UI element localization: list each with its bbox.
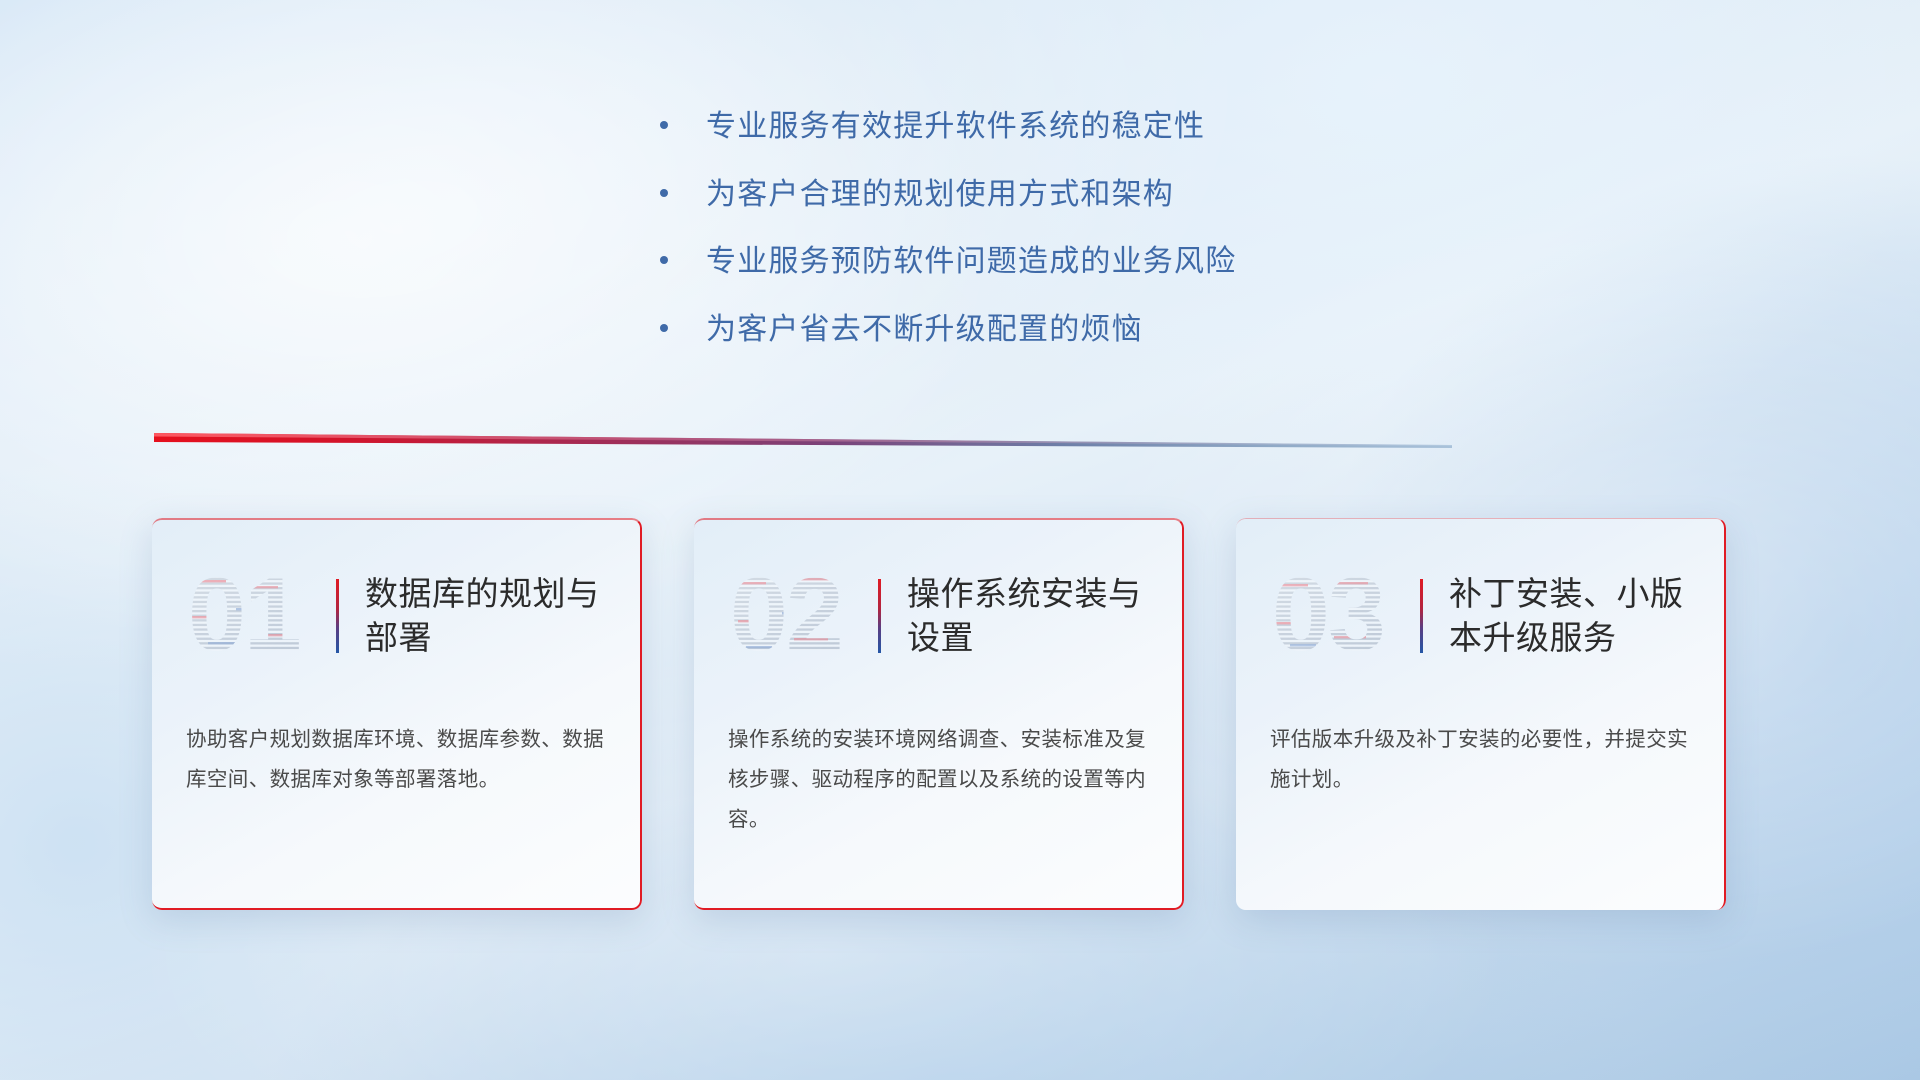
bullet-item-label: 专业服务有效提升软件系统的稳定性 [706,108,1205,146]
bullet-dot-icon [660,324,668,332]
slide-root: 专业服务有效提升软件系统的稳定性 为客户合理的规划使用方式和架构 专业服务预防软… [0,0,1920,1080]
card-number-03-icon: 03 [1270,564,1402,668]
card-title: 数据库的规划与部署 [365,572,608,659]
card-title-separator [1420,579,1423,653]
card-header: 03 [1270,556,1692,676]
bullet-item: 为客户合理的规划使用方式和架构 [660,176,1420,214]
card-number-01-icon: 01 [186,564,318,668]
card-title-separator [336,579,339,653]
card-body-text: 协助客户规划数据库环境、数据库参数、数据库空间、数据库对象等部署落地。 [186,720,608,800]
bullet-item: 专业服务预防软件问题造成的业务风险 [660,243,1420,281]
card-title: 补丁安装、小版本升级服务 [1449,572,1692,659]
card-title: 操作系统安装与设置 [907,572,1150,659]
card-03[interactable]: 03 [1236,518,1726,910]
card-header: 02 [728,556,1150,676]
bullet-item-label: 专业服务预防软件问题造成的业务风险 [706,243,1236,281]
card-number-02-icon: 02 [728,564,860,668]
bullet-item-label: 为客户省去不断升级配置的烦恼 [706,311,1143,349]
bullet-dot-icon [660,256,668,264]
bullet-dot-icon [660,121,668,129]
bullet-dot-icon [660,189,668,197]
card-body-text: 评估版本升级及补丁安装的必要性，并提交实施计划。 [1270,720,1692,800]
card-header: 01 [186,556,608,676]
bullet-list: 专业服务有效提升软件系统的稳定性 为客户合理的规划使用方式和架构 专业服务预防软… [660,108,1420,348]
divider-shape-icon [152,424,1452,456]
card-body-text: 操作系统的安装环境网络调查、安装标准及复核步骤、驱动程序的配置以及系统的设置等内… [728,720,1150,840]
bullet-item: 为客户省去不断升级配置的烦恼 [660,311,1420,349]
bullet-item: 专业服务有效提升软件系统的稳定性 [660,108,1420,146]
card-02[interactable]: 02 [694,518,1184,910]
card-01[interactable]: 01 [152,518,642,910]
cards-row: 01 [152,518,1772,910]
card-title-separator [878,579,881,653]
bullet-item-label: 为客户合理的规划使用方式和架构 [706,176,1174,214]
section-divider [152,424,1452,456]
